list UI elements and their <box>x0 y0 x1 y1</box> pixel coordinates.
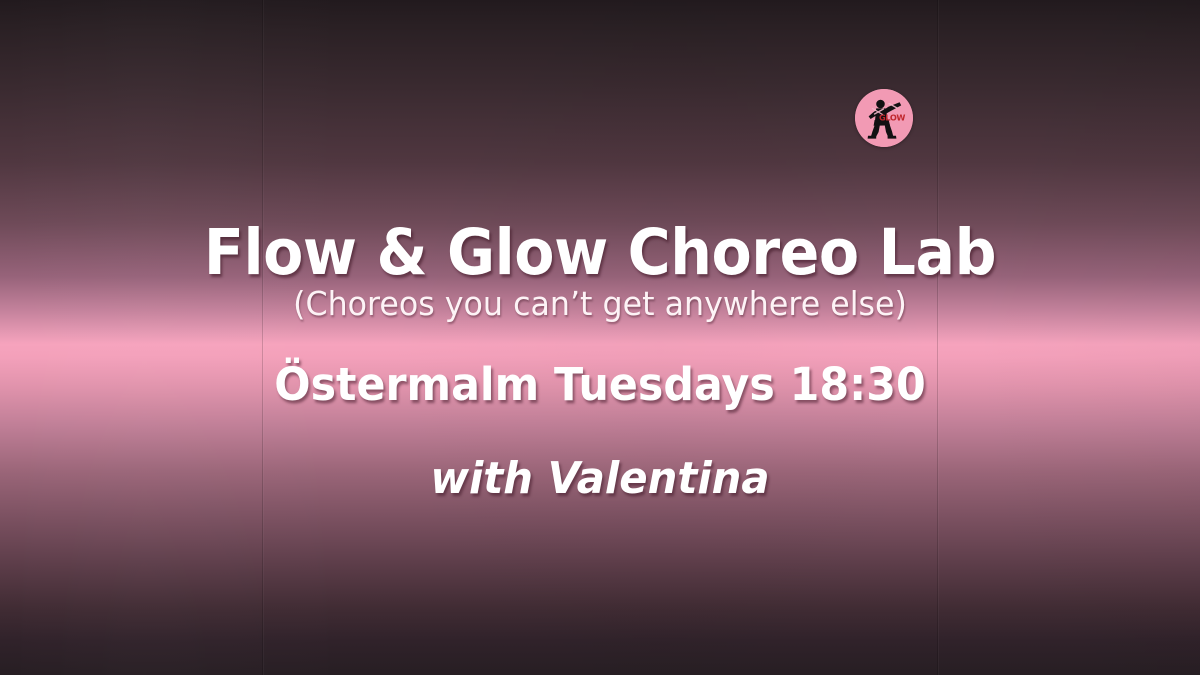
glow-dance-logo: GLOW <box>855 89 913 147</box>
logo-wordmark-text: GLOW <box>879 113 905 123</box>
event-promo-slide: GLOW Flow & Glow Choreo Lab (Choreos you… <box>0 0 1200 675</box>
page-title: Flow & Glow Choreo Lab <box>42 221 1158 284</box>
instructor-credit: with Valentina <box>30 457 1170 501</box>
slide-subtitle: (Choreos you can’t get anywhere else) <box>24 287 1176 320</box>
background-gradient <box>0 0 1200 675</box>
schedule-detail: Östermalm Tuesdays 18:30 <box>30 362 1170 407</box>
